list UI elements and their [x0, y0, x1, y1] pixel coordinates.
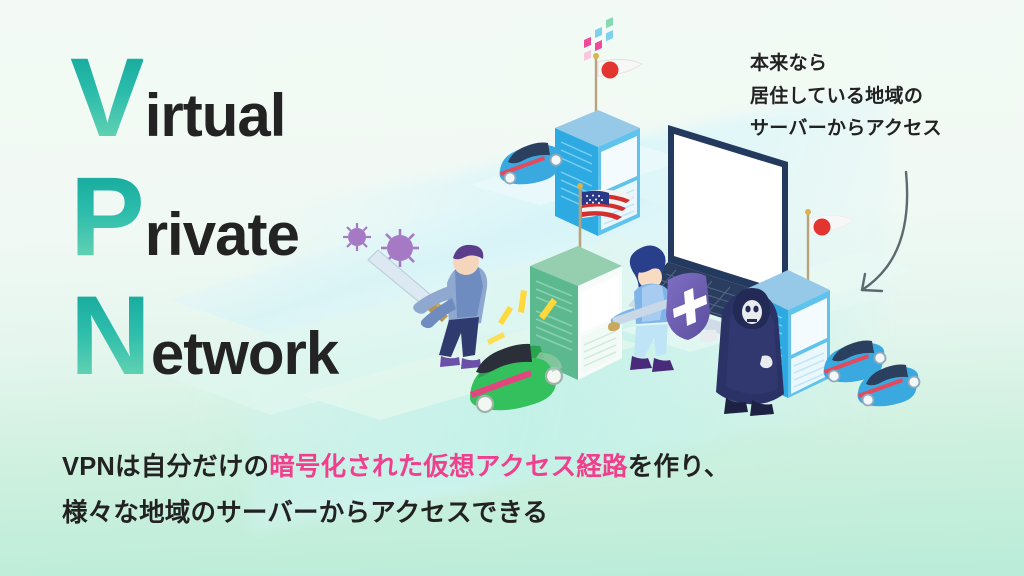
- page-title: V irtual P rivate N etwork: [70, 46, 338, 387]
- title-rest-virtual: irtual: [145, 81, 286, 150]
- annotation-callout: 本来なら 居住している地域の サーバーからアクセス: [750, 48, 1000, 146]
- title-line-private: P rivate: [70, 165, 338, 268]
- annotation-line-1: 本来なら: [750, 48, 1000, 81]
- caption-text: VPNは自分だけの暗号化された仮想アクセス経路を作り、 様々な地域のサーバーから…: [62, 444, 962, 537]
- caption-line-1-before: VPNは自分だけの: [62, 453, 269, 481]
- title-cap-v: V: [70, 46, 143, 149]
- caption-line-1-after: を作り、: [628, 453, 730, 481]
- annotation-line-3: サーバーからアクセス: [750, 113, 1000, 146]
- caption-line-2: 様々な地域のサーバーからアクセスできる: [62, 490, 962, 536]
- title-line-virtual: V irtual: [70, 46, 338, 149]
- title-line-network: N etwork: [70, 284, 338, 387]
- title-cap-n: N: [70, 284, 149, 387]
- caption-highlight: 暗号化された仮想アクセス経路: [269, 453, 628, 481]
- infographic-canvas: V irtual P rivate N etwork 本来なら 居住している地域…: [0, 0, 1024, 576]
- title-rest-private: rivate: [145, 200, 299, 269]
- caption-line-1: VPNは自分だけの暗号化された仮想アクセス経路を作り、: [62, 444, 962, 490]
- title-cap-p: P: [70, 165, 143, 268]
- annotation-line-2: 居住している地域の: [750, 81, 1000, 114]
- title-rest-network: etwork: [151, 319, 338, 388]
